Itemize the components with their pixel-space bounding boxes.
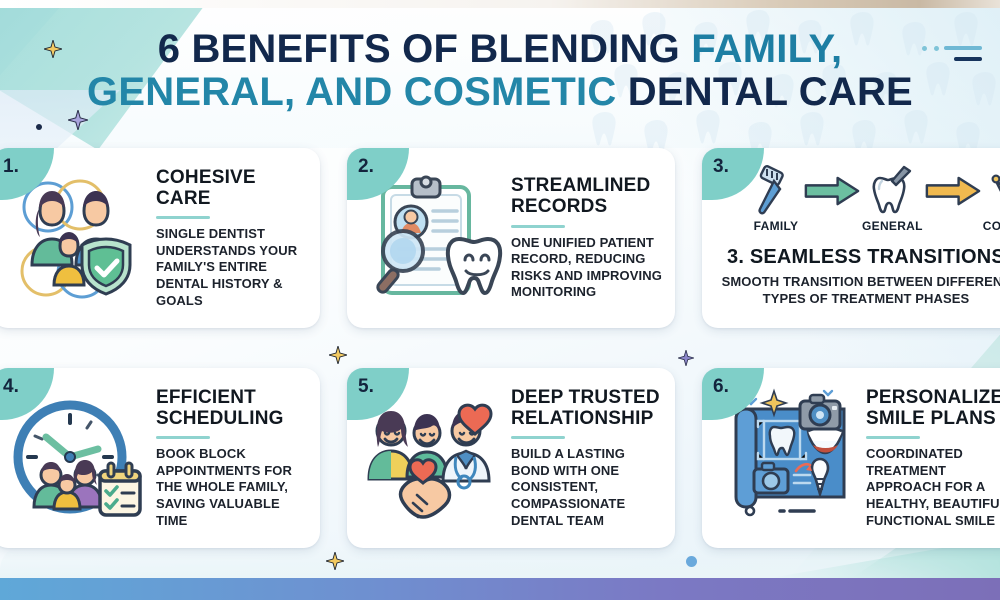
card-5-number: 5. xyxy=(358,376,374,398)
title-seg-benefits: 6 BENEFITS OF BLENDING xyxy=(158,27,692,71)
flow-step-family-label: FAMILY xyxy=(754,219,799,233)
benefit-card-6[interactable]: 6. xyxy=(702,368,1000,548)
page-title-line-2: GENERAL, AND COSMETIC DENTAL CARE xyxy=(0,71,1000,114)
card-5-body: BUILD A LASTING BOND WITH ONE CONSISTENT… xyxy=(511,446,663,529)
flow-step-cosmetic-label: COSMETIC xyxy=(983,219,1000,233)
tooth-drill-icon xyxy=(866,165,918,215)
card-6-title: PERSONALIZED SMILE PLANS xyxy=(866,387,1000,430)
decor-dot-navy-topleft xyxy=(36,124,42,130)
card-3-body: SMOOTH TRANSITION BETWEEN DIFFERENT TYPE… xyxy=(712,274,1000,308)
sparkle-gold-midrow-left xyxy=(329,346,347,364)
card-1-title: COHESIVE CARE xyxy=(156,167,308,210)
title-seg-dental-care: DENTAL CARE xyxy=(628,70,913,114)
flow-arrow-1-icon xyxy=(804,176,860,206)
card-6-body: COORDINATED TREATMENT APPROACH FOR A HEA… xyxy=(866,446,1000,529)
flow-step-cosmetic: COSMETIC xyxy=(983,165,1000,233)
card-2-divider xyxy=(511,225,565,228)
decor-bottom-gradient-band xyxy=(0,578,1000,600)
page-title-line-1: 6 BENEFITS OF BLENDING FAMILY, xyxy=(0,28,1000,71)
card-4-body: BOOK BLOCK APPOINTMENTS FOR THE WHOLE FA… xyxy=(156,446,308,529)
card-2-body: ONE UNIFIED PATIENT RECORD, REDUCING RIS… xyxy=(511,235,663,302)
flow-arrow-2-icon xyxy=(925,176,981,206)
benefit-card-5[interactable]: 5. xyxy=(347,368,675,548)
flow-step-family: FAMILY xyxy=(750,165,802,233)
infographic-canvas: 6 BENEFITS OF BLENDING FAMILY, GENERAL, … xyxy=(0,0,1000,600)
card-3-number: 3. xyxy=(713,156,729,178)
title-seg-general-cosmetic: GENERAL, AND COSMETIC xyxy=(87,70,628,114)
crown-icon xyxy=(990,165,1000,215)
card-2-number: 2. xyxy=(358,156,374,178)
decor-dot-blue-bottom xyxy=(686,556,697,567)
card-1-number: 1. xyxy=(3,156,19,178)
card-1-divider xyxy=(156,216,210,219)
title-seg-family: FAMILY, xyxy=(691,27,842,71)
benefit-card-2[interactable]: 2. xyxy=(347,148,675,328)
card-6-divider xyxy=(866,436,920,439)
card-6-number: 6. xyxy=(713,376,729,398)
benefit-card-4[interactable]: 4. xyxy=(0,368,320,548)
sparkle-purple-midrow-right xyxy=(678,350,694,366)
benefit-card-1[interactable]: 1. xyxy=(0,148,320,328)
card-3-title: 3. SEAMLESS TRANSITIONS xyxy=(712,246,1000,269)
card-4-number: 4. xyxy=(3,376,19,398)
card-4-title: EFFICIENT SCHEDULING xyxy=(156,387,308,430)
sparkle-gold-bottom xyxy=(326,552,344,570)
card-5-divider xyxy=(511,436,565,439)
page-title: 6 BENEFITS OF BLENDING FAMILY, GENERAL, … xyxy=(0,28,1000,114)
benefit-card-3[interactable]: 3. FAMILY xyxy=(702,148,1000,328)
card-2-title: STREAMLINED RECORDS xyxy=(511,175,663,218)
flow-step-general-label: GENERAL xyxy=(862,219,923,233)
card-4-divider xyxy=(156,436,210,439)
card-5-title: DEEP TRUSTED RELATIONSHIP xyxy=(511,387,663,430)
card-1-body: SINGLE DENTIST UNDERSTANDS YOUR FAMILY'S… xyxy=(156,226,308,309)
flow-step-general: GENERAL xyxy=(862,165,923,233)
